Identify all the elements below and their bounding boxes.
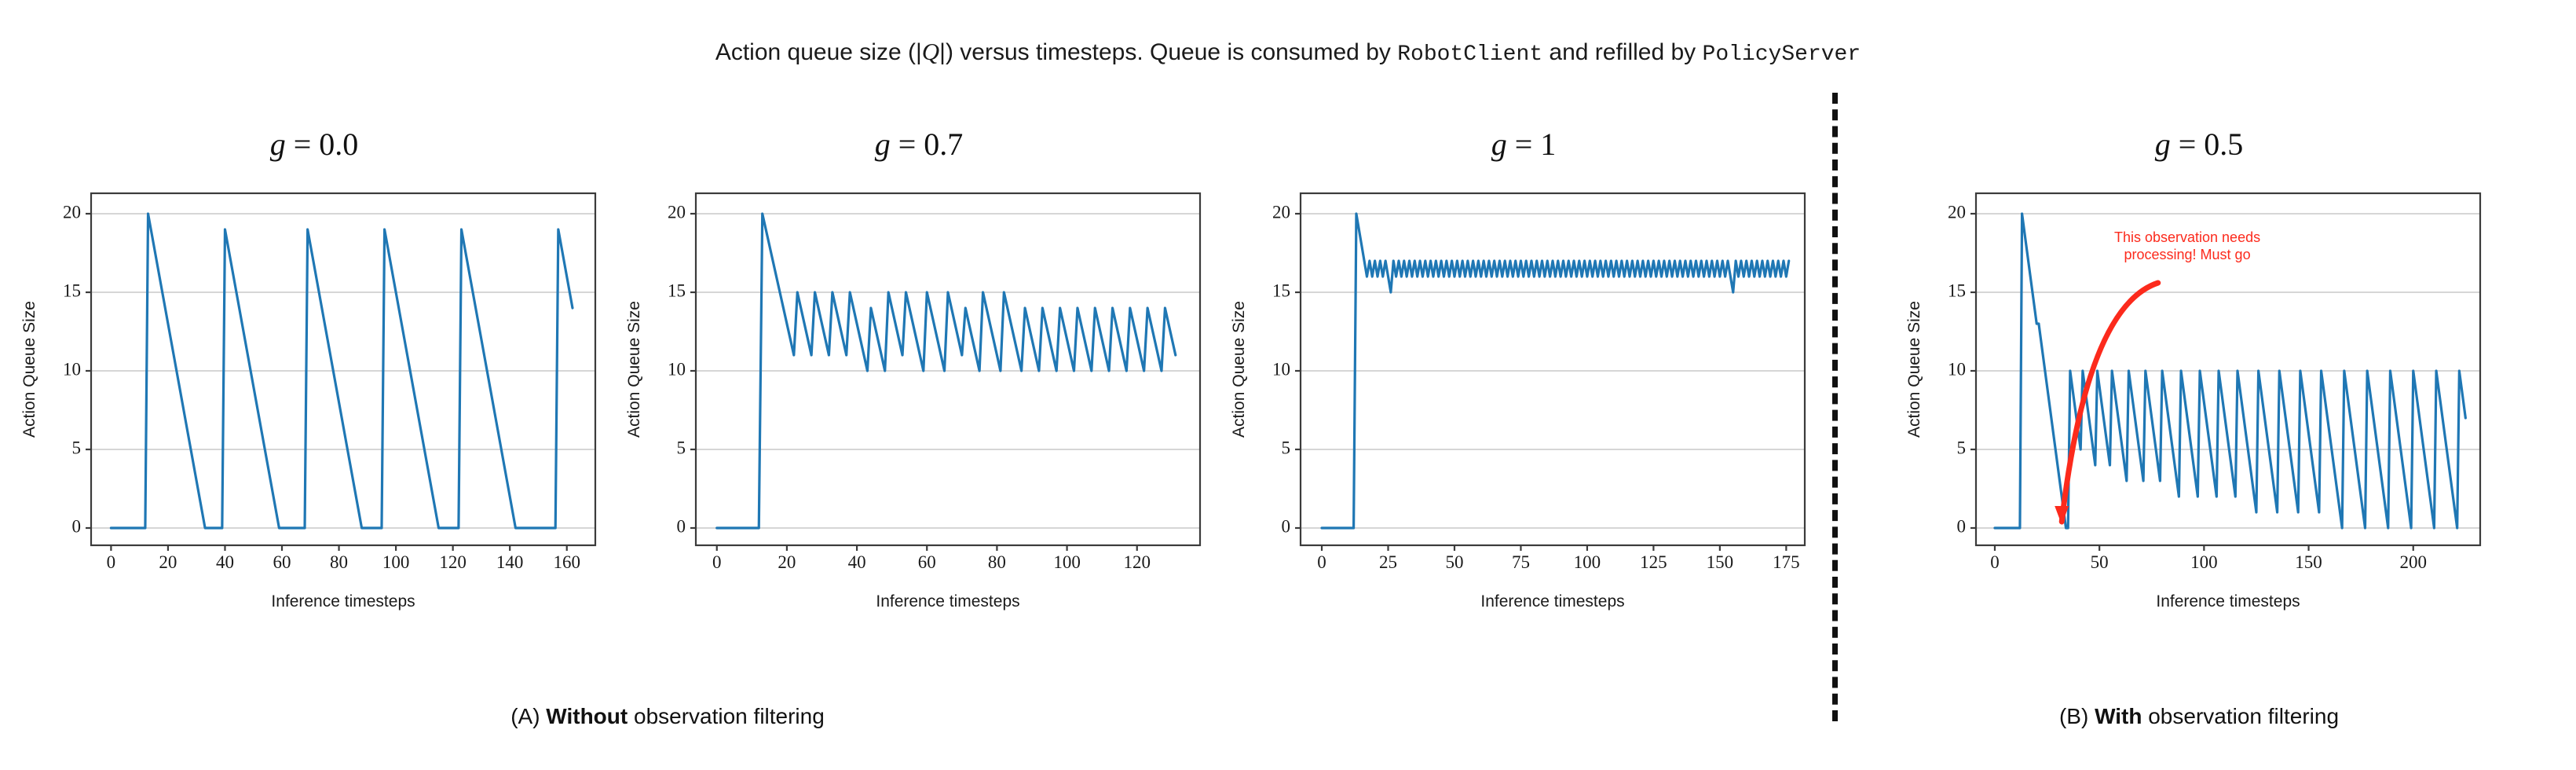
y-tick-label: 20 xyxy=(1948,202,1966,222)
y-axis-title: Action Queue Size xyxy=(20,301,38,438)
x-tick-label: 120 xyxy=(1124,552,1151,572)
panel-g-0-7: g = 0.7 02040608010012005101520Inference… xyxy=(620,126,1217,707)
y-tick-label: 10 xyxy=(1272,359,1290,379)
x-axis-title: Inference timesteps xyxy=(1480,592,1624,610)
y-tick-label: 5 xyxy=(1957,438,1967,457)
x-tick-label: 160 xyxy=(553,552,580,572)
y-tick-label: 5 xyxy=(1282,438,1291,457)
caption-a-bold: Without xyxy=(546,704,628,728)
y-tick-label: 0 xyxy=(1282,516,1291,536)
x-tick-label: 75 xyxy=(1512,552,1530,572)
panel-g-0-0: g = 0.0 02040608010012014016005101520Inf… xyxy=(16,126,613,707)
x-tick-label: 60 xyxy=(918,552,936,572)
y-tick-label: 20 xyxy=(1272,202,1290,222)
panel-title-rest: = 0.5 xyxy=(2171,126,2244,162)
y-axis-title: Action Queue Size xyxy=(1905,301,1923,438)
x-tick-label: 50 xyxy=(1445,552,1463,572)
x-axis-title: Inference timesteps xyxy=(876,592,1019,610)
annotation-text-line1: This observation needs xyxy=(2114,229,2260,245)
x-tick-label: 0 xyxy=(107,552,116,572)
x-tick-label: 0 xyxy=(1990,552,2000,572)
panel-title-var: g xyxy=(2155,126,2171,162)
y-tick-label: 15 xyxy=(63,280,81,300)
x-tick-label: 20 xyxy=(778,552,796,572)
y-axis-title: Action Queue Size xyxy=(625,301,643,438)
y-tick-label: 10 xyxy=(63,359,81,379)
x-tick-label: 100 xyxy=(1574,552,1601,572)
figure-title-code-robotclient: RobotClient xyxy=(1397,42,1542,67)
caption-a-prefix: (A) xyxy=(510,704,546,728)
panel-title-g-0-0: g = 0.0 xyxy=(16,126,613,163)
figure-title-code-policyserver: PolicyServer xyxy=(1703,42,1861,67)
x-tick-label: 20 xyxy=(159,552,177,572)
x-tick-label: 120 xyxy=(439,552,467,572)
y-tick-label: 5 xyxy=(72,438,82,457)
figure-title-part3: and refilled by xyxy=(1542,39,1702,65)
y-tick-label: 20 xyxy=(668,202,686,222)
x-tick-label: 200 xyxy=(2400,552,2428,572)
plot-frame xyxy=(91,193,595,545)
caption-b-suffix: observation filtering xyxy=(2142,704,2339,728)
y-tick-label: 5 xyxy=(677,438,686,457)
plot-frame xyxy=(1301,193,1805,545)
annotation-arrowhead xyxy=(2055,506,2069,525)
plot-area-g-1: 025507510012515017505101520Inference tim… xyxy=(1225,181,1822,621)
panel-title-var: g xyxy=(875,126,891,162)
x-tick-label: 50 xyxy=(2091,552,2109,572)
panel-title-g-0-7: g = 0.7 xyxy=(620,126,1217,163)
x-tick-label: 80 xyxy=(330,552,348,572)
panel-title-g-1: g = 1 xyxy=(1225,126,1822,163)
plot-frame xyxy=(696,193,1200,545)
y-tick-label: 10 xyxy=(1948,359,1966,379)
caption-a: (A) Without observation filtering xyxy=(314,704,1021,729)
x-axis-title: Inference timesteps xyxy=(2156,592,2300,610)
y-tick-label: 20 xyxy=(63,202,81,222)
y-tick-label: 15 xyxy=(1272,280,1290,300)
plot-area-g-0-5: 05010015020005101520Inference timestepsA… xyxy=(1901,181,2497,621)
panel-title-var: g xyxy=(1491,126,1507,162)
y-tick-label: 15 xyxy=(1948,280,1966,300)
y-tick-label: 15 xyxy=(668,280,686,300)
x-tick-label: 150 xyxy=(1707,552,1734,572)
x-tick-label: 150 xyxy=(2295,552,2322,572)
x-tick-label: 175 xyxy=(1773,552,1800,572)
x-tick-label: 40 xyxy=(848,552,866,572)
y-axis-title: Action Queue Size xyxy=(1230,301,1248,438)
figure-title-part2: |) versus timesteps. Queue is consumed b… xyxy=(939,39,1397,65)
figure-title-mathcal-q: Q xyxy=(922,38,939,65)
caption-b-bold: With xyxy=(2095,704,2142,728)
x-tick-label: 100 xyxy=(2190,552,2218,572)
section-divider xyxy=(1832,93,1838,721)
caption-a-suffix: observation filtering xyxy=(628,704,825,728)
annotation-arrow xyxy=(2062,283,2158,522)
x-tick-label: 25 xyxy=(1379,552,1397,572)
y-tick-label: 0 xyxy=(1957,516,1967,536)
panel-g-1: g = 1 025507510012515017505101520Inferen… xyxy=(1225,126,1822,707)
y-tick-label: 0 xyxy=(72,516,82,536)
panel-title-var: g xyxy=(270,126,286,162)
x-tick-label: 80 xyxy=(988,552,1006,572)
x-tick-label: 140 xyxy=(496,552,524,572)
annotation-text-line2: processing! Must go xyxy=(2124,247,2251,262)
x-tick-label: 100 xyxy=(1053,552,1081,572)
caption-b-prefix: (B) xyxy=(2059,704,2095,728)
figure-title-part1: Action queue size (| xyxy=(715,39,922,65)
x-tick-label: 0 xyxy=(1317,552,1326,572)
panel-title-rest: = 0.0 xyxy=(286,126,359,162)
x-tick-label: 125 xyxy=(1640,552,1667,572)
plot-area-g-0-0: 02040608010012014016005101520Inference t… xyxy=(16,181,613,621)
panel-title-rest: = 1 xyxy=(1507,126,1557,162)
figure-root: Action queue size (|Q|) versus timesteps… xyxy=(0,0,2576,770)
x-tick-label: 0 xyxy=(712,552,722,572)
caption-b: (B) With observation filtering xyxy=(1846,704,2552,729)
x-tick-label: 100 xyxy=(382,552,410,572)
y-tick-label: 10 xyxy=(668,359,686,379)
x-tick-label: 40 xyxy=(216,552,234,572)
x-axis-title: Inference timesteps xyxy=(271,592,415,610)
panel-title-g-0-5: g = 0.5 xyxy=(1901,126,2497,163)
plot-area-g-0-7: 02040608010012005101520Inference timeste… xyxy=(620,181,1217,621)
figure-title: Action queue size (|Q|) versus timesteps… xyxy=(0,38,2576,67)
panel-title-rest: = 0.7 xyxy=(891,126,964,162)
panel-g-0-5: g = 0.5 05010015020005101520Inference ti… xyxy=(1901,126,2497,707)
x-tick-label: 60 xyxy=(273,552,291,572)
y-tick-label: 0 xyxy=(677,516,686,536)
